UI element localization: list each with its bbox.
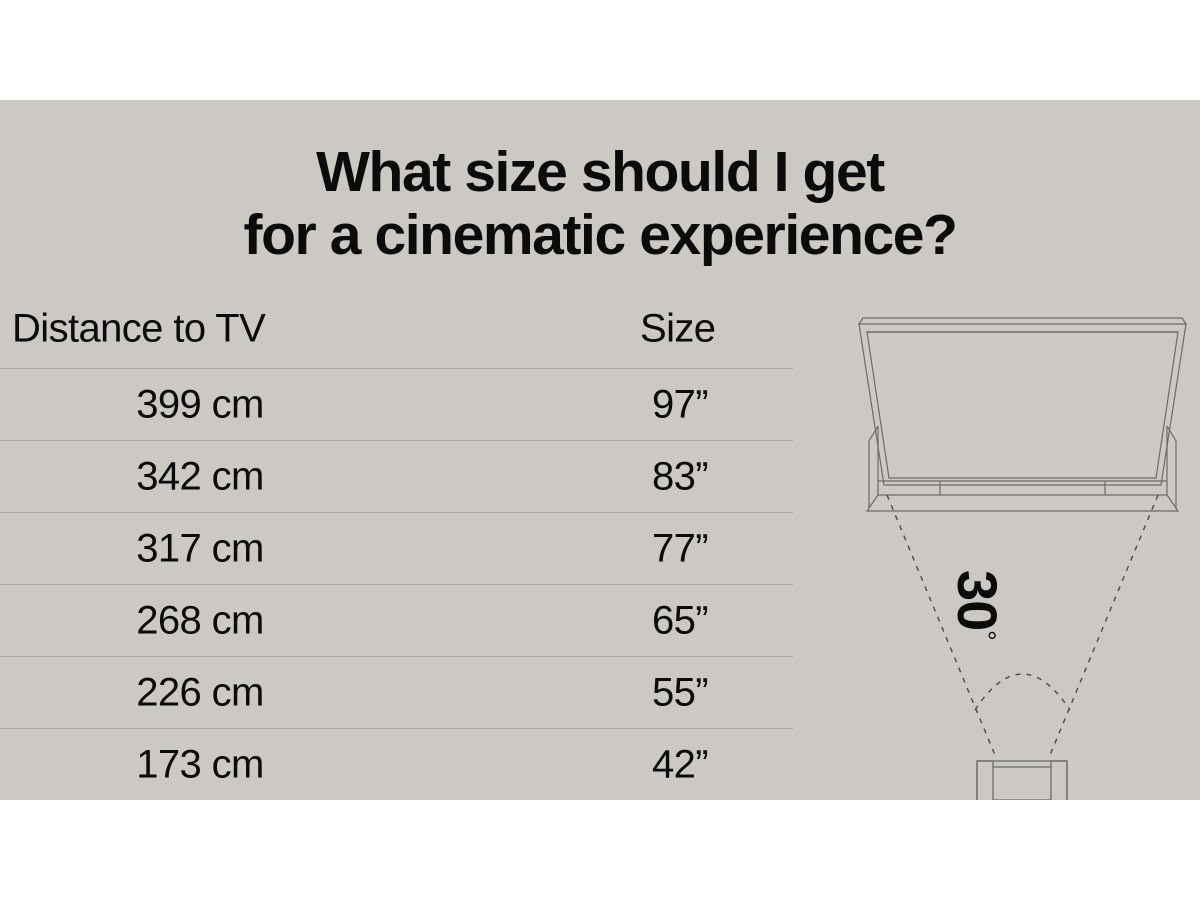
viewing-angle-arc-icon — [975, 674, 1070, 710]
cell-size: 42” — [570, 742, 790, 787]
table-header-row: Distance to TV Size — [0, 290, 793, 368]
cell-distance: 268 cm — [0, 598, 400, 643]
table-row: 268 cm 65” — [0, 584, 793, 656]
table-row: 317 cm 77” — [0, 512, 793, 584]
table-row: 173 cm 42” — [0, 728, 793, 800]
cell-size: 65” — [570, 598, 790, 643]
page-title-line-1: What size should I get — [0, 141, 1200, 204]
page-title-line-2: for a cinematic experience? — [0, 204, 1200, 267]
infographic-page: What size should I get for a cinematic e… — [0, 0, 1200, 900]
cell-distance: 317 cm — [0, 526, 400, 571]
table-row: 399 cm 97” — [0, 368, 793, 440]
cell-size: 77” — [570, 526, 790, 571]
tv-top-view-icon — [859, 318, 1186, 485]
column-header-distance: Distance to TV — [12, 307, 265, 352]
table-row: 226 cm 55” — [0, 656, 793, 728]
viewing-angle-label: 30° — [949, 570, 1005, 640]
page-title: What size should I get for a cinematic e… — [0, 141, 1200, 266]
column-header-size: Size — [640, 307, 715, 352]
degree-symbol: ° — [972, 630, 1002, 639]
table-row: 342 cm 83” — [0, 440, 793, 512]
cell-distance: 173 cm — [0, 742, 400, 787]
cell-distance: 342 cm — [0, 454, 400, 499]
viewing-angle-dashed-lines-icon — [887, 495, 1158, 755]
armchair-top-view-icon — [977, 761, 1067, 800]
size-recommendation-table: Distance to TV Size 399 cm 97” 342 cm 83… — [0, 290, 793, 800]
gray-banner: What size should I get for a cinematic e… — [0, 100, 1200, 800]
cell-distance: 226 cm — [0, 670, 400, 715]
cell-size: 55” — [570, 670, 790, 715]
viewing-angle-diagram — [845, 295, 1200, 800]
viewing-angle-value: 30 — [946, 570, 1009, 630]
cell-size: 83” — [570, 454, 790, 499]
cell-distance: 399 cm — [0, 382, 400, 427]
tv-console-icon — [867, 426, 1178, 511]
cell-size: 97” — [570, 382, 790, 427]
